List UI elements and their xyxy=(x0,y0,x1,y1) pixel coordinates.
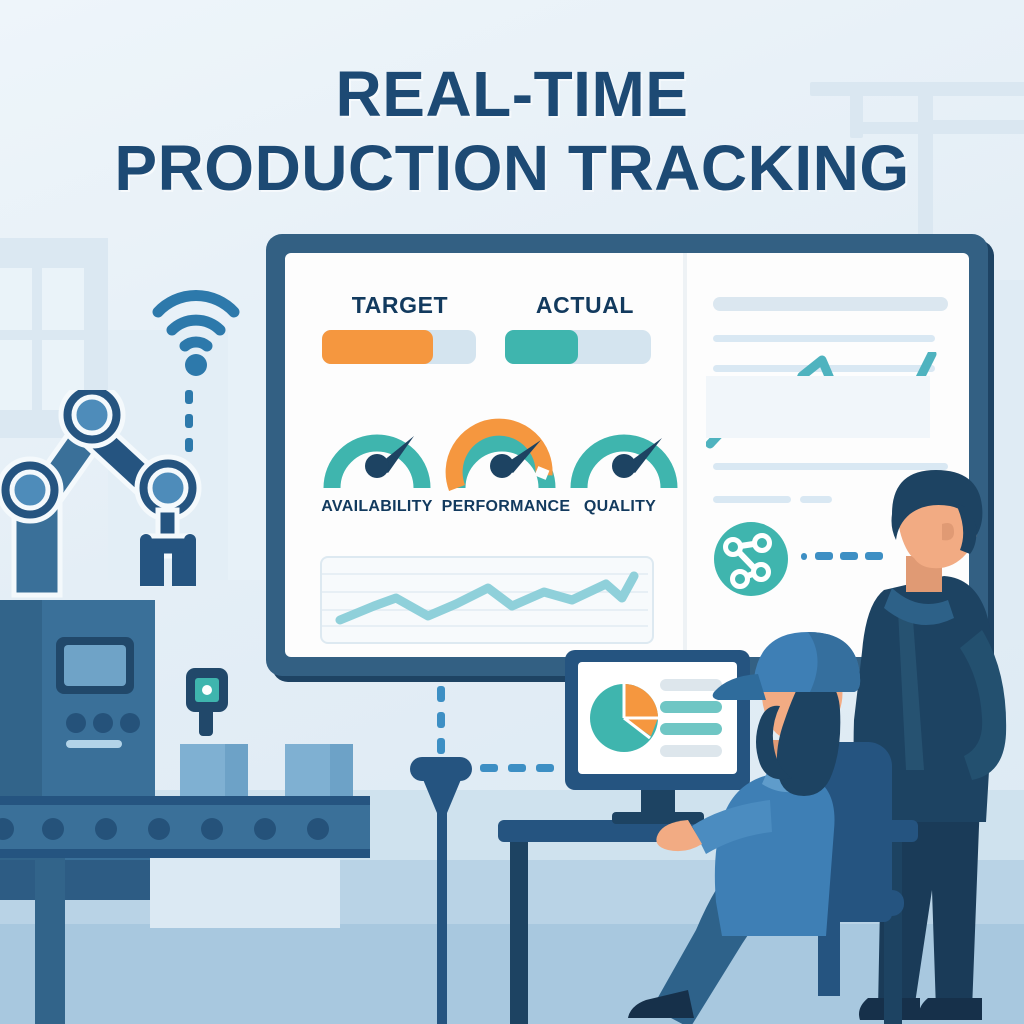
kpi-bar-fill-actual xyxy=(505,330,578,364)
kpi-bar-track-actual xyxy=(505,330,651,364)
machine-button[interactable] xyxy=(120,713,140,733)
machine-status-strip xyxy=(66,740,122,748)
seated-operator xyxy=(620,612,880,1024)
machine-sensor-stem xyxy=(199,710,213,736)
background-window-pane xyxy=(42,268,84,330)
page-title-line-2: PRODUCTION TRACKING xyxy=(0,136,1024,201)
panel-text-placeholder xyxy=(713,496,791,503)
conveyor-belt-edge xyxy=(0,849,370,858)
machine-lower-panel xyxy=(0,860,175,900)
conveyor-box-side xyxy=(225,744,248,796)
kpi-bar-fill-target xyxy=(322,330,433,364)
kpi-label-actual: ACTUAL xyxy=(505,292,665,319)
gauge-performance xyxy=(443,396,561,504)
conveyor-roller xyxy=(42,818,64,840)
production-trend-chart xyxy=(320,556,654,644)
conveyor-leg xyxy=(150,858,340,928)
panel-headline-placeholder xyxy=(713,297,948,311)
conveyor-leg xyxy=(35,858,65,1024)
gauge-availability xyxy=(318,396,436,504)
kpi-bar-track-target xyxy=(322,330,476,364)
gauge-quality xyxy=(565,396,683,504)
sensor-uplink-dash xyxy=(437,712,445,728)
desk-leg xyxy=(510,842,528,1024)
machine-display-screen xyxy=(64,645,126,686)
sensor-uplink-dash xyxy=(437,686,445,702)
sensor-post-stem xyxy=(418,777,466,1024)
right-panel-trend-chart xyxy=(706,352,954,464)
gauge-label-performance: PERFORMANCE xyxy=(435,498,577,516)
illustration-canvas: REAL-TIME PRODUCTION TRACKING xyxy=(0,0,1024,1024)
conveyor-roller xyxy=(148,818,170,840)
sensor-uplink-dash xyxy=(437,738,445,754)
gauge-label-quality: QUALITY xyxy=(565,498,675,516)
panel-text-placeholder xyxy=(800,496,832,503)
iot-link-dash xyxy=(801,553,807,560)
conveyor-roller xyxy=(254,818,276,840)
kpi-label-target: TARGET xyxy=(320,292,480,319)
sensor-link-dash xyxy=(536,764,554,772)
panel-text-placeholder xyxy=(713,335,935,342)
page-title-line-1: REAL-TIME xyxy=(0,62,1024,127)
wifi-signal-icon xyxy=(148,282,244,378)
iot-link-dash xyxy=(815,552,833,560)
gauge-label-availability: AVAILABILITY xyxy=(308,498,446,516)
sensor-link-dash xyxy=(480,764,498,772)
background-window-pane xyxy=(0,268,32,330)
conveyor-roller xyxy=(201,818,223,840)
network-node-icon[interactable] xyxy=(714,522,788,596)
machine-button[interactable] xyxy=(66,713,86,733)
conveyor-roller xyxy=(95,818,117,840)
chart-band xyxy=(706,376,930,438)
machine-sensor-led xyxy=(202,685,212,695)
conveyor-roller xyxy=(307,818,329,840)
machine-button[interactable] xyxy=(93,713,113,733)
panel-text-placeholder xyxy=(713,463,948,470)
conveyor-belt-edge xyxy=(0,796,370,805)
conveyor-box-side xyxy=(330,744,353,796)
sensor-link-dash xyxy=(508,764,526,772)
wall-screen-divider xyxy=(683,253,687,657)
